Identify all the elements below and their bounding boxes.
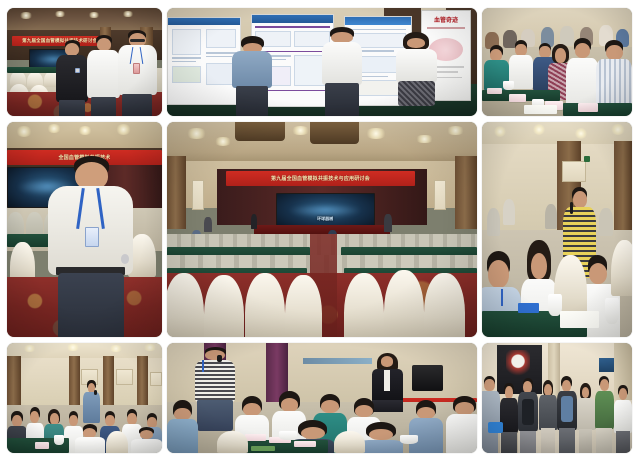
downlight-icon bbox=[446, 126, 465, 135]
standing-questioner bbox=[195, 347, 235, 428]
attendee bbox=[518, 378, 538, 453]
downlight-icon bbox=[214, 137, 233, 146]
pillar bbox=[614, 141, 632, 231]
attendee bbox=[503, 199, 515, 225]
teacup bbox=[400, 435, 419, 444]
downlight-icon bbox=[19, 12, 33, 18]
wall-accent bbox=[303, 358, 371, 364]
downlight-icon bbox=[47, 124, 61, 133]
attendee bbox=[614, 385, 632, 453]
standing-speaker bbox=[83, 380, 100, 422]
downlight-icon bbox=[54, 11, 66, 16]
poster-board bbox=[167, 17, 241, 106]
portrait-subject bbox=[47, 156, 134, 337]
led-screen: 环球器械 bbox=[276, 193, 375, 230]
photo-4-scene: 全国血管模拟共振技术 bbox=[7, 122, 162, 337]
teacup bbox=[54, 435, 65, 445]
paper-cup bbox=[605, 298, 619, 324]
attendee bbox=[322, 27, 362, 116]
downlight-icon bbox=[494, 126, 506, 137]
chandelier bbox=[310, 122, 360, 144]
photo-2-scene: 血管奇迹 bbox=[167, 8, 477, 116]
chair bbox=[611, 240, 632, 296]
pillar bbox=[69, 356, 80, 407]
papers bbox=[560, 311, 599, 328]
attendee bbox=[396, 32, 436, 116]
attendee bbox=[557, 376, 577, 453]
photo-6-scene bbox=[482, 122, 632, 337]
name-card bbox=[487, 88, 502, 94]
table bbox=[563, 103, 632, 116]
chair bbox=[334, 431, 365, 453]
backpack bbox=[522, 399, 534, 424]
photo-7-scene bbox=[7, 343, 162, 453]
photo-tile[interactable] bbox=[482, 122, 632, 337]
downlight-icon bbox=[109, 345, 123, 352]
photo-3-scene bbox=[482, 8, 632, 116]
downlight-icon bbox=[88, 12, 100, 17]
pillar bbox=[455, 156, 477, 229]
attendee bbox=[539, 380, 557, 453]
downlight-icon bbox=[66, 344, 80, 351]
pillar bbox=[7, 356, 21, 409]
downlight-icon bbox=[291, 126, 310, 135]
attendee bbox=[131, 427, 162, 453]
attendee bbox=[167, 400, 198, 453]
photo-5-scene: 第九届全国血管模拟共振技术与应用研讨会 环球器械 bbox=[167, 122, 477, 337]
wall-screen bbox=[599, 358, 614, 371]
attendee bbox=[204, 217, 212, 232]
downlight-icon bbox=[16, 126, 32, 137]
name-card bbox=[509, 94, 526, 102]
photo-tile[interactable]: 第九届全国血管模拟共振技术与应用研讨会 环球器械 bbox=[167, 122, 477, 337]
photo-tile[interactable] bbox=[482, 343, 632, 453]
downlight-icon bbox=[78, 126, 92, 135]
artwork-figure bbox=[506, 350, 530, 379]
photo-tile[interactable] bbox=[167, 343, 477, 453]
exit-sign bbox=[584, 156, 590, 161]
wall-art bbox=[434, 180, 446, 210]
pillar bbox=[103, 356, 114, 407]
chair bbox=[245, 273, 285, 338]
equipment-case bbox=[488, 422, 503, 433]
banner-text: 第九届全国血管模拟共振技术与应用研讨会 bbox=[226, 171, 415, 186]
attendee bbox=[359, 422, 402, 453]
attendee bbox=[500, 383, 518, 453]
downlight-icon bbox=[122, 11, 134, 16]
pillar bbox=[137, 356, 148, 407]
attendee bbox=[117, 30, 157, 116]
jeans bbox=[197, 400, 232, 431]
wristwatch bbox=[121, 254, 129, 263]
attendee bbox=[75, 424, 104, 453]
wall-art bbox=[562, 161, 586, 183]
hall-banner: 第九届全国血管模拟共振技术与应用研讨会 bbox=[226, 171, 415, 186]
attendee bbox=[384, 214, 392, 231]
attendee bbox=[487, 208, 501, 236]
papers bbox=[524, 105, 557, 114]
attendee bbox=[446, 396, 477, 453]
attendee bbox=[409, 400, 443, 453]
microphone-icon bbox=[570, 202, 572, 214]
wall-art bbox=[116, 369, 133, 384]
photo-1-scene: 第九届全国血管模拟共振技术研讨会 bbox=[7, 8, 162, 116]
chair bbox=[424, 273, 464, 338]
chair bbox=[106, 431, 128, 453]
downlight-icon bbox=[611, 124, 625, 135]
screen-caption: 环球器械 bbox=[277, 216, 374, 222]
name-card bbox=[245, 434, 267, 441]
attendee bbox=[251, 214, 257, 229]
name-card bbox=[35, 442, 49, 449]
attendee bbox=[595, 376, 615, 453]
chair bbox=[7, 212, 24, 236]
downlight-icon bbox=[116, 124, 132, 135]
photo-tile[interactable] bbox=[7, 343, 162, 453]
glasses-icon bbox=[130, 39, 145, 42]
wall-art bbox=[192, 180, 204, 210]
photo-8-scene bbox=[167, 343, 477, 453]
ceiling bbox=[7, 8, 162, 32]
attendee bbox=[577, 383, 595, 453]
chair bbox=[26, 212, 43, 236]
photo-tile[interactable] bbox=[482, 8, 632, 116]
attendee bbox=[232, 36, 272, 116]
backpack bbox=[561, 396, 573, 422]
photo-tile[interactable]: 全国血管模拟共振技术 bbox=[7, 122, 162, 337]
chair bbox=[217, 431, 248, 453]
wall-art bbox=[150, 372, 162, 386]
name-card bbox=[578, 103, 598, 112]
name-card bbox=[294, 441, 316, 448]
teacup bbox=[279, 431, 298, 440]
downlight-icon bbox=[533, 124, 545, 135]
rollup-title: 血管奇迹 bbox=[425, 15, 467, 24]
teacup bbox=[503, 81, 514, 90]
bottle bbox=[251, 446, 276, 450]
microphone-icon bbox=[217, 355, 222, 362]
stage bbox=[254, 225, 390, 234]
photo-tile[interactable]: 第九届全国血管模拟共振技术研讨会 bbox=[7, 8, 162, 116]
loudspeaker bbox=[412, 365, 443, 391]
attendee bbox=[599, 208, 613, 236]
blouse bbox=[384, 370, 390, 391]
chandelier bbox=[235, 122, 285, 141]
photo-collage: 第九届全国血管模拟共振技术研讨会 bbox=[0, 0, 640, 460]
downlight-icon bbox=[143, 344, 157, 351]
photo-9-scene bbox=[482, 343, 632, 453]
photo-tile[interactable]: 血管奇迹 bbox=[167, 8, 477, 116]
microphone-icon bbox=[94, 390, 97, 395]
attendee bbox=[482, 376, 500, 453]
folder bbox=[518, 303, 539, 314]
downlight-icon bbox=[23, 345, 37, 352]
photo-grid: 第九届全国血管模拟共振技术研讨会 bbox=[7, 8, 633, 452]
pillar bbox=[167, 156, 186, 229]
attendee bbox=[545, 204, 557, 230]
